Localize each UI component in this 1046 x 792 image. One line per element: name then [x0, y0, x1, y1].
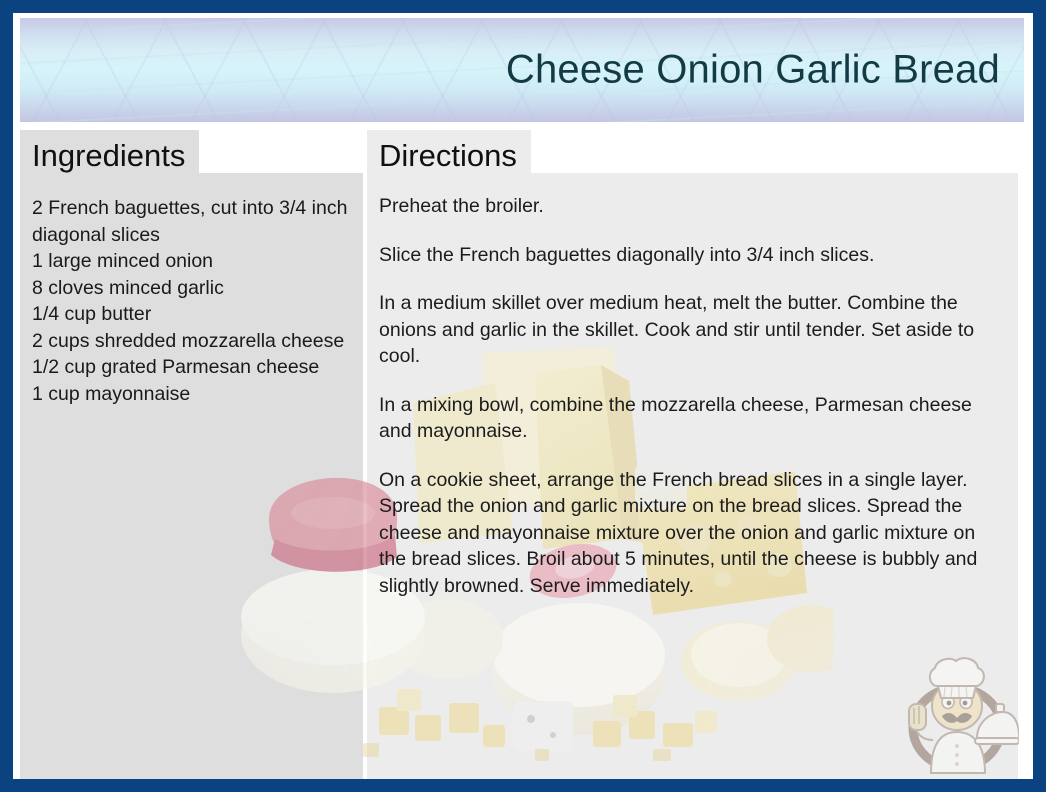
list-item: 2 cups shredded mozzarella cheese [32, 328, 349, 355]
list-item: 1/4 cup butter [32, 301, 349, 328]
direction-step: Preheat the broiler. [379, 193, 1004, 220]
list-item: 1 cup mayonnaise [32, 381, 349, 408]
recipe-card: Cheese Onion Garlic Bread [0, 0, 1046, 792]
list-item: 2 French baguettes, cut into 3/4 inch di… [32, 195, 349, 248]
direction-step: In a mixing bowl, combine the mozzarella… [379, 392, 1004, 445]
directions-heading: Directions [367, 130, 531, 173]
ingredients-heading: Ingredients [20, 130, 199, 173]
ingredients-panel: Ingredients 2 French baguettes, cut into… [20, 173, 363, 779]
direction-step: In a medium skillet over medium heat, me… [379, 290, 1004, 370]
title-banner: Cheese Onion Garlic Bread [20, 18, 1024, 122]
list-item: 1/2 cup grated Parmesan cheese [32, 354, 349, 381]
direction-step: Slice the French baguettes diagonally in… [379, 242, 1004, 269]
directions-panel: Directions Preheat the broiler. Slice th… [367, 173, 1018, 779]
directions-body: Preheat the broiler. Slice the French ba… [367, 173, 1018, 599]
list-item: 8 cloves minced garlic [32, 275, 349, 302]
recipe-title: Cheese Onion Garlic Bread [506, 48, 1000, 93]
recipe-page: Cheese Onion Garlic Bread [13, 13, 1033, 779]
ingredients-body: 2 French baguettes, cut into 3/4 inch di… [20, 173, 363, 407]
direction-step: On a cookie sheet, arrange the French br… [379, 467, 1004, 600]
list-item: 1 large minced onion [32, 248, 349, 275]
ingredients-list: 2 French baguettes, cut into 3/4 inch di… [32, 195, 349, 407]
